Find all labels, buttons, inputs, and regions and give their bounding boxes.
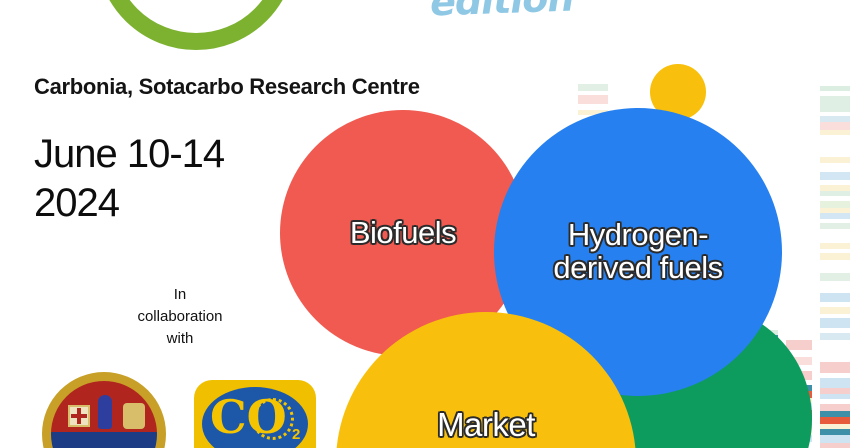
stripe-bar	[820, 417, 850, 424]
co2-logo-subscript: 2	[292, 426, 300, 443]
stripe-bar	[820, 229, 850, 243]
stripe-bar	[820, 293, 850, 302]
eu-stars-icon	[252, 398, 294, 440]
collaboration-line1: In	[96, 284, 264, 306]
stripe-bar	[820, 333, 850, 340]
crest-ornament-icon	[123, 403, 145, 429]
stripe-bar	[578, 84, 608, 91]
bubble-hydrogen-label-line1: Hydrogen-	[568, 217, 708, 252]
stripe-bar	[820, 340, 850, 362]
stripe-bar	[820, 260, 850, 273]
stripe-bar	[820, 435, 850, 443]
stripe-bar	[578, 95, 608, 104]
bubble-market-label: Market	[437, 408, 535, 443]
stripe-bar	[820, 122, 850, 130]
crest-cross-icon	[68, 405, 90, 427]
stripe-bar	[820, 443, 850, 448]
stripe-bar	[820, 273, 850, 281]
stripe-bar	[820, 172, 850, 180]
stripe-column-1	[820, 86, 850, 448]
crest-figure-icon	[98, 395, 112, 429]
crest-shield	[51, 381, 157, 448]
stripe-bar	[820, 362, 850, 373]
stripe-bar	[820, 96, 850, 112]
page-title: Carbonia, Sotacarbo Research Centre	[34, 74, 420, 100]
stripe-bar	[820, 307, 850, 314]
carbon-logo-ring	[96, 0, 296, 50]
stripe-bar	[820, 163, 850, 172]
stripe-column-0	[578, 84, 608, 115]
edition-wordmark-text: edition	[429, 0, 574, 24]
event-dates-line2: 2024	[34, 179, 224, 228]
stripe-bar	[820, 378, 850, 388]
co2-logo: CO 2 Se.N.A.	[194, 380, 316, 448]
collaboration-label: In collaboration with	[96, 284, 264, 349]
stripe-bar	[820, 404, 850, 411]
university-crest-logo	[42, 372, 166, 448]
stripe-bar	[820, 135, 850, 157]
conference-poster: rbon edition Biofuels Hydrogen-derived f…	[0, 0, 850, 448]
stripe-bar	[820, 253, 850, 260]
event-dates: June 10-14 2024	[34, 130, 224, 228]
bubble-hydrogen-label: Hydrogen-derived fuels	[553, 219, 722, 285]
stripe-bar	[820, 201, 850, 208]
stripe-bar	[786, 340, 812, 350]
stripe-bar	[820, 281, 850, 293]
carbon-logo-text: rbon	[96, 0, 296, 3]
event-dates-line1: June 10-14	[34, 130, 224, 179]
stripe-bar	[820, 318, 850, 328]
collaboration-line2: collaboration	[96, 306, 264, 328]
collaboration-line3: with	[96, 328, 264, 350]
bubble-hydrogen-label-line2: derived fuels	[553, 250, 722, 285]
bubble-biofuels-label: Biofuels	[350, 217, 456, 250]
